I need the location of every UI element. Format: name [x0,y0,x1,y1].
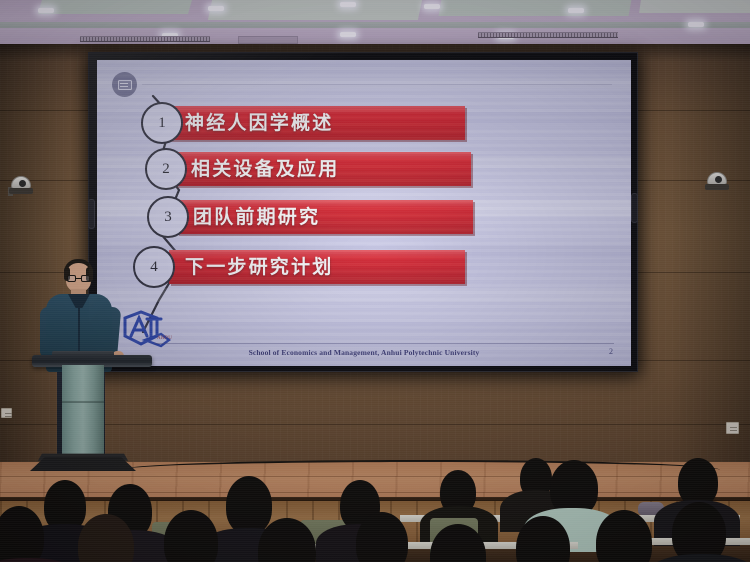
ptz-camera-left-icon [8,176,34,196]
ceiling [0,0,750,46]
slide-footer-rule [154,343,614,344]
agenda-item-label: 神经人因学概述 [185,106,333,140]
logo-subtext: AHPU [157,336,172,341]
camera-lens [715,176,722,183]
lecture-hall-scene: 神经人因学概述 1 相关设备及应用 2 团队前期研究 [0,0,750,562]
camera-bracket [9,188,33,194]
slide-footer-text: School of Economics and Management, Anhu… [97,348,631,357]
agenda-item-label: 团队前期研究 [193,200,320,234]
display-speaker-right [631,193,638,223]
presentation-slide[interactable]: 神经人因学概述 1 相关设备及应用 2 团队前期研究 [97,60,631,366]
ceiling-panel [208,0,422,20]
ptz-camera-right-icon [704,172,730,192]
lectern-seam [62,401,104,403]
display-speaker-left [88,199,95,229]
ceiling-air-vent [478,32,618,38]
glasses-lens [67,275,76,282]
ceiling-panel [38,0,192,14]
agenda-item-number: 1 [141,102,183,144]
wall-display[interactable]: 神经人因学概述 1 相关设备及应用 2 团队前期研究 [88,52,638,372]
agenda-item-number: 2 [145,148,187,190]
audience-shoulders [646,554,750,562]
ceiling-air-vent [238,36,298,44]
ceiling-downlight [38,8,54,13]
wall-right-shading [670,44,750,464]
ceiling-panel [439,0,632,16]
ceiling-downlight [340,32,356,37]
agenda-item-label: 相关设备及应用 [191,152,339,186]
camera-lens [19,180,26,187]
ceiling-downlight [424,4,440,9]
audience-head [0,506,44,562]
slide-page-number: 2 [609,347,613,356]
glasses-icon [67,275,90,282]
audience-head [164,510,218,562]
audience-head [226,476,272,534]
audience-head [672,502,726,562]
ceiling-air-vent [80,36,210,42]
glasses-lens [81,275,90,282]
ceiling-downlight [568,8,584,13]
agenda-item-label: 下一步研究计划 [185,250,333,284]
audience [0,440,750,562]
agenda-item-number: 3 [147,196,189,238]
ceiling-panel [639,0,750,13]
ceiling-downlight [688,22,704,27]
ceiling-downlight [340,2,356,7]
camera-bracket [705,184,729,190]
audience-head [678,458,718,506]
wall-outlet-icon [726,422,739,434]
ceiling-downlight [208,6,224,11]
wall-outlet-icon [1,408,12,418]
